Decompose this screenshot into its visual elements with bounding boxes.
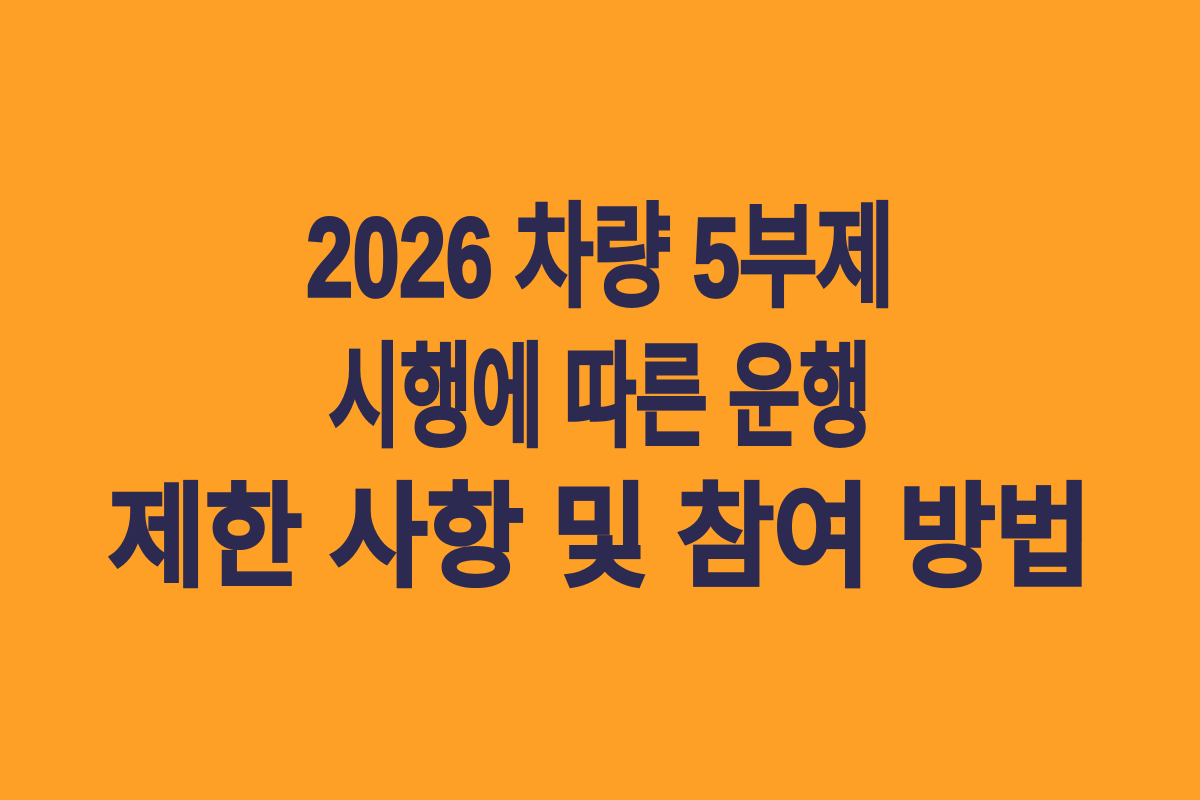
- headline-line-1: 2026 차량 5부제: [148, 188, 1052, 328]
- headline-line-2: 시행에 따른 운행: [183, 328, 1018, 468]
- headline-block: 2026 차량 5부제 시행에 따른 운행 제한 사항 및 참여 방법: [0, 188, 1200, 608]
- headline-line-3: 제한 사항 및 참여 방법: [36, 468, 1164, 608]
- poster-canvas: 2026 차량 5부제 시행에 따른 운행 제한 사항 및 참여 방법: [0, 0, 1200, 800]
